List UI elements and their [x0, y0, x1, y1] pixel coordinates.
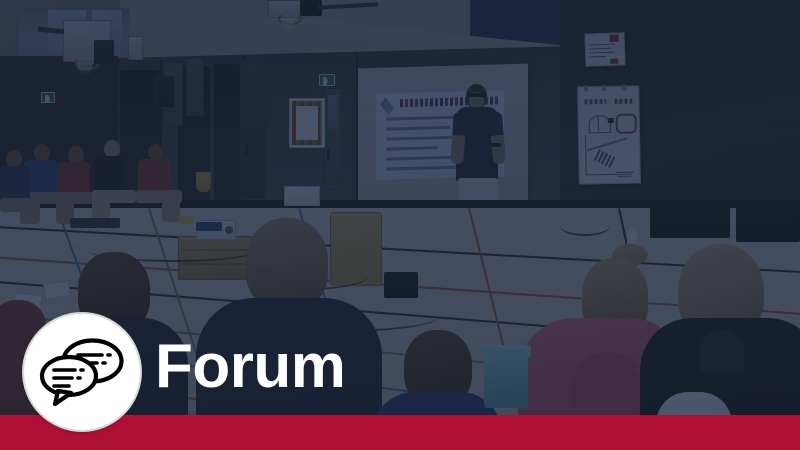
speech-bubbles-icon — [39, 337, 125, 407]
forum-badge — [22, 312, 142, 432]
accent-bar — [0, 415, 800, 450]
banner-title: Forum — [155, 336, 345, 398]
forum-banner: Forum — [0, 0, 800, 450]
